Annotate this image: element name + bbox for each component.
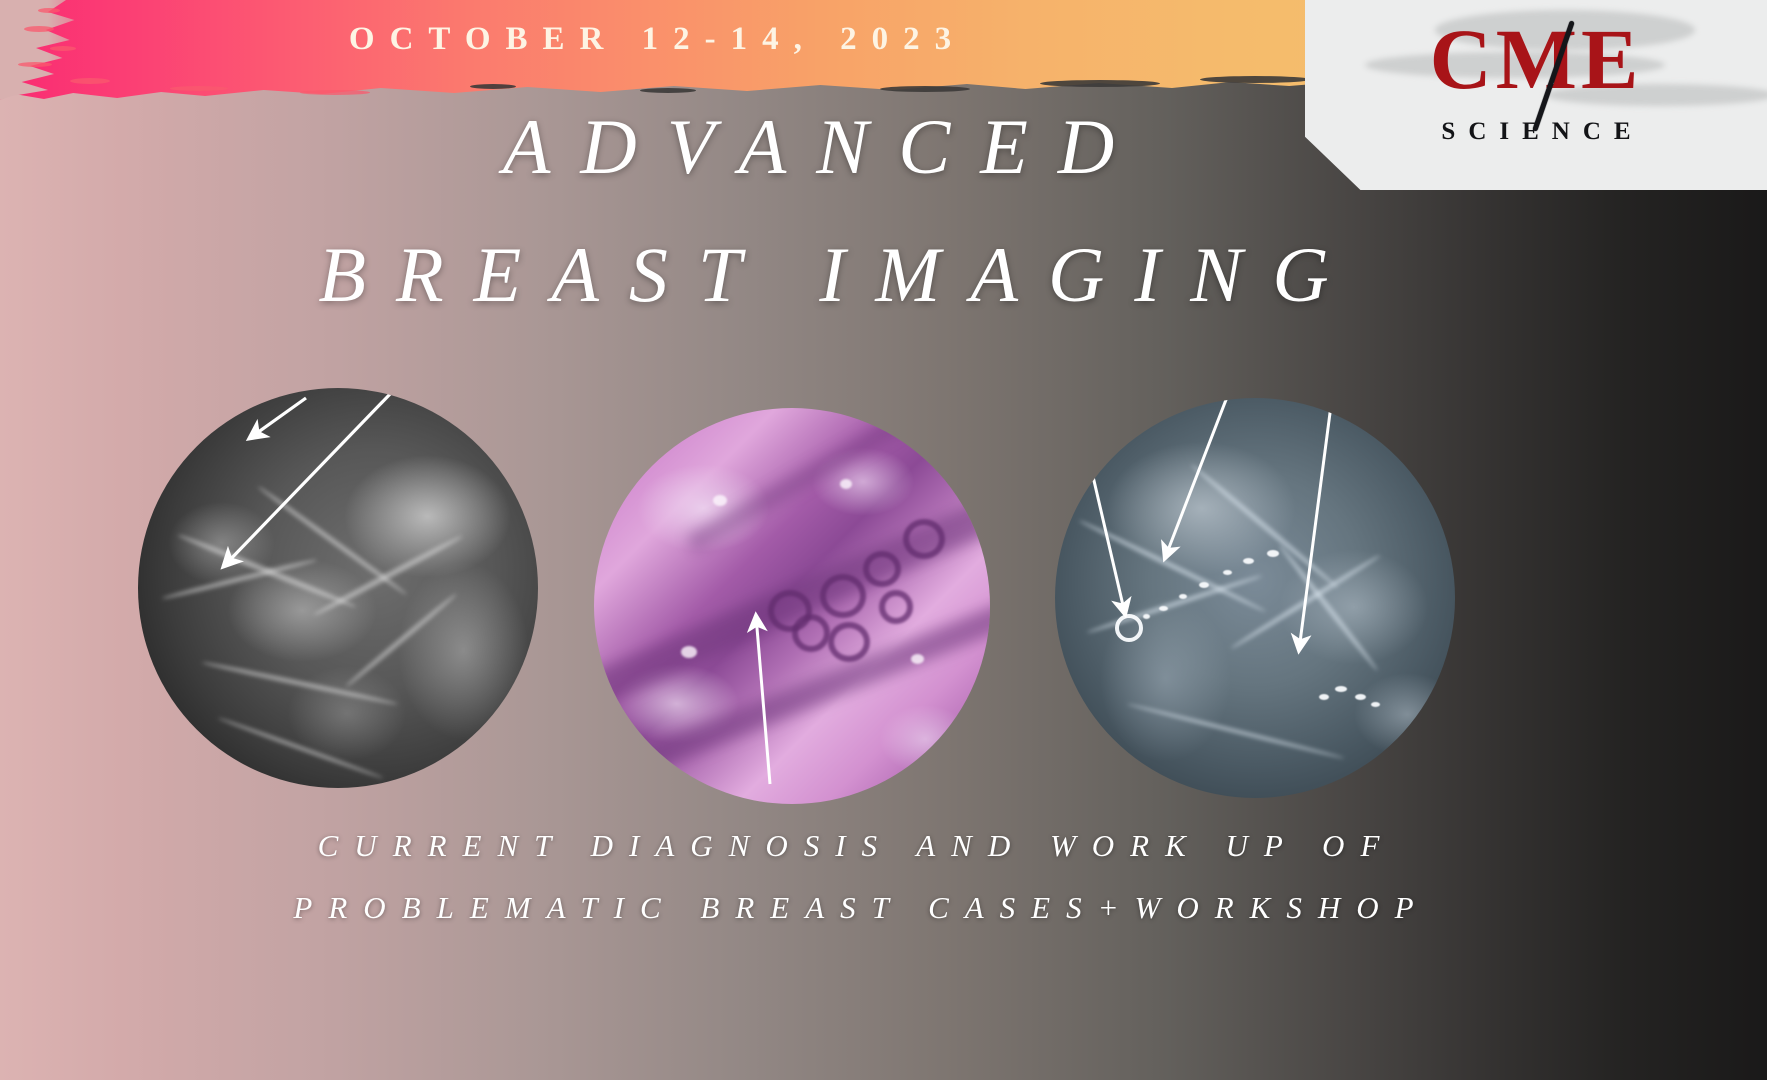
duct-lumen <box>828 622 870 662</box>
paint-fleck <box>470 84 516 89</box>
tissue-speck <box>681 646 697 658</box>
duct-lumen <box>903 519 945 559</box>
calcification <box>1319 694 1329 700</box>
image-circle-grayscale-mammogram <box>138 388 538 788</box>
paint-fleck <box>70 78 110 84</box>
tissue-speck <box>911 654 924 664</box>
calcification <box>1199 582 1209 588</box>
event-banner: OCTOBER 12-14, 2023 CME SCIENCE ADVANCED… <box>0 0 1767 1080</box>
paint-fleck <box>1040 80 1160 87</box>
calcification <box>1223 570 1232 575</box>
calcification <box>1143 614 1150 619</box>
clip-marker <box>1115 614 1143 642</box>
subtitle-line-1: CURRENT DIAGNOSIS AND WORK UP OF <box>0 828 1767 864</box>
calcification <box>1371 702 1380 707</box>
image-circle-histology-slide <box>594 408 990 804</box>
page-title-line-2: BREAST IMAGING <box>0 230 1767 320</box>
subtitle-line-2: PROBLEMATIC BREAST CASES+WORKSHOP <box>0 890 1767 926</box>
calcification <box>1267 550 1279 557</box>
duct-lumen <box>863 551 901 587</box>
tissue-speck <box>840 479 852 489</box>
calcification <box>1243 558 1254 564</box>
paint-fleck <box>300 90 370 95</box>
duct-lumen <box>792 614 830 652</box>
calcification <box>1335 686 1347 692</box>
event-date: OCTOBER 12-14, 2023 <box>0 0 1300 78</box>
calcification <box>1355 694 1366 700</box>
calcification <box>1179 594 1187 599</box>
cme-science-logo[interactable]: CME SCIENCE <box>1305 0 1767 190</box>
paint-fleck <box>880 86 970 92</box>
paint-fleck <box>170 86 228 91</box>
calcification <box>1159 606 1168 611</box>
tissue-speck <box>713 495 727 506</box>
image-circle-blue-mammogram <box>1055 398 1455 798</box>
logo-wordmark-text: SCIENCE <box>1305 118 1767 146</box>
paint-fleck <box>640 88 696 93</box>
logo-mark-text: CME <box>1305 16 1767 102</box>
duct-lumen <box>820 574 866 618</box>
